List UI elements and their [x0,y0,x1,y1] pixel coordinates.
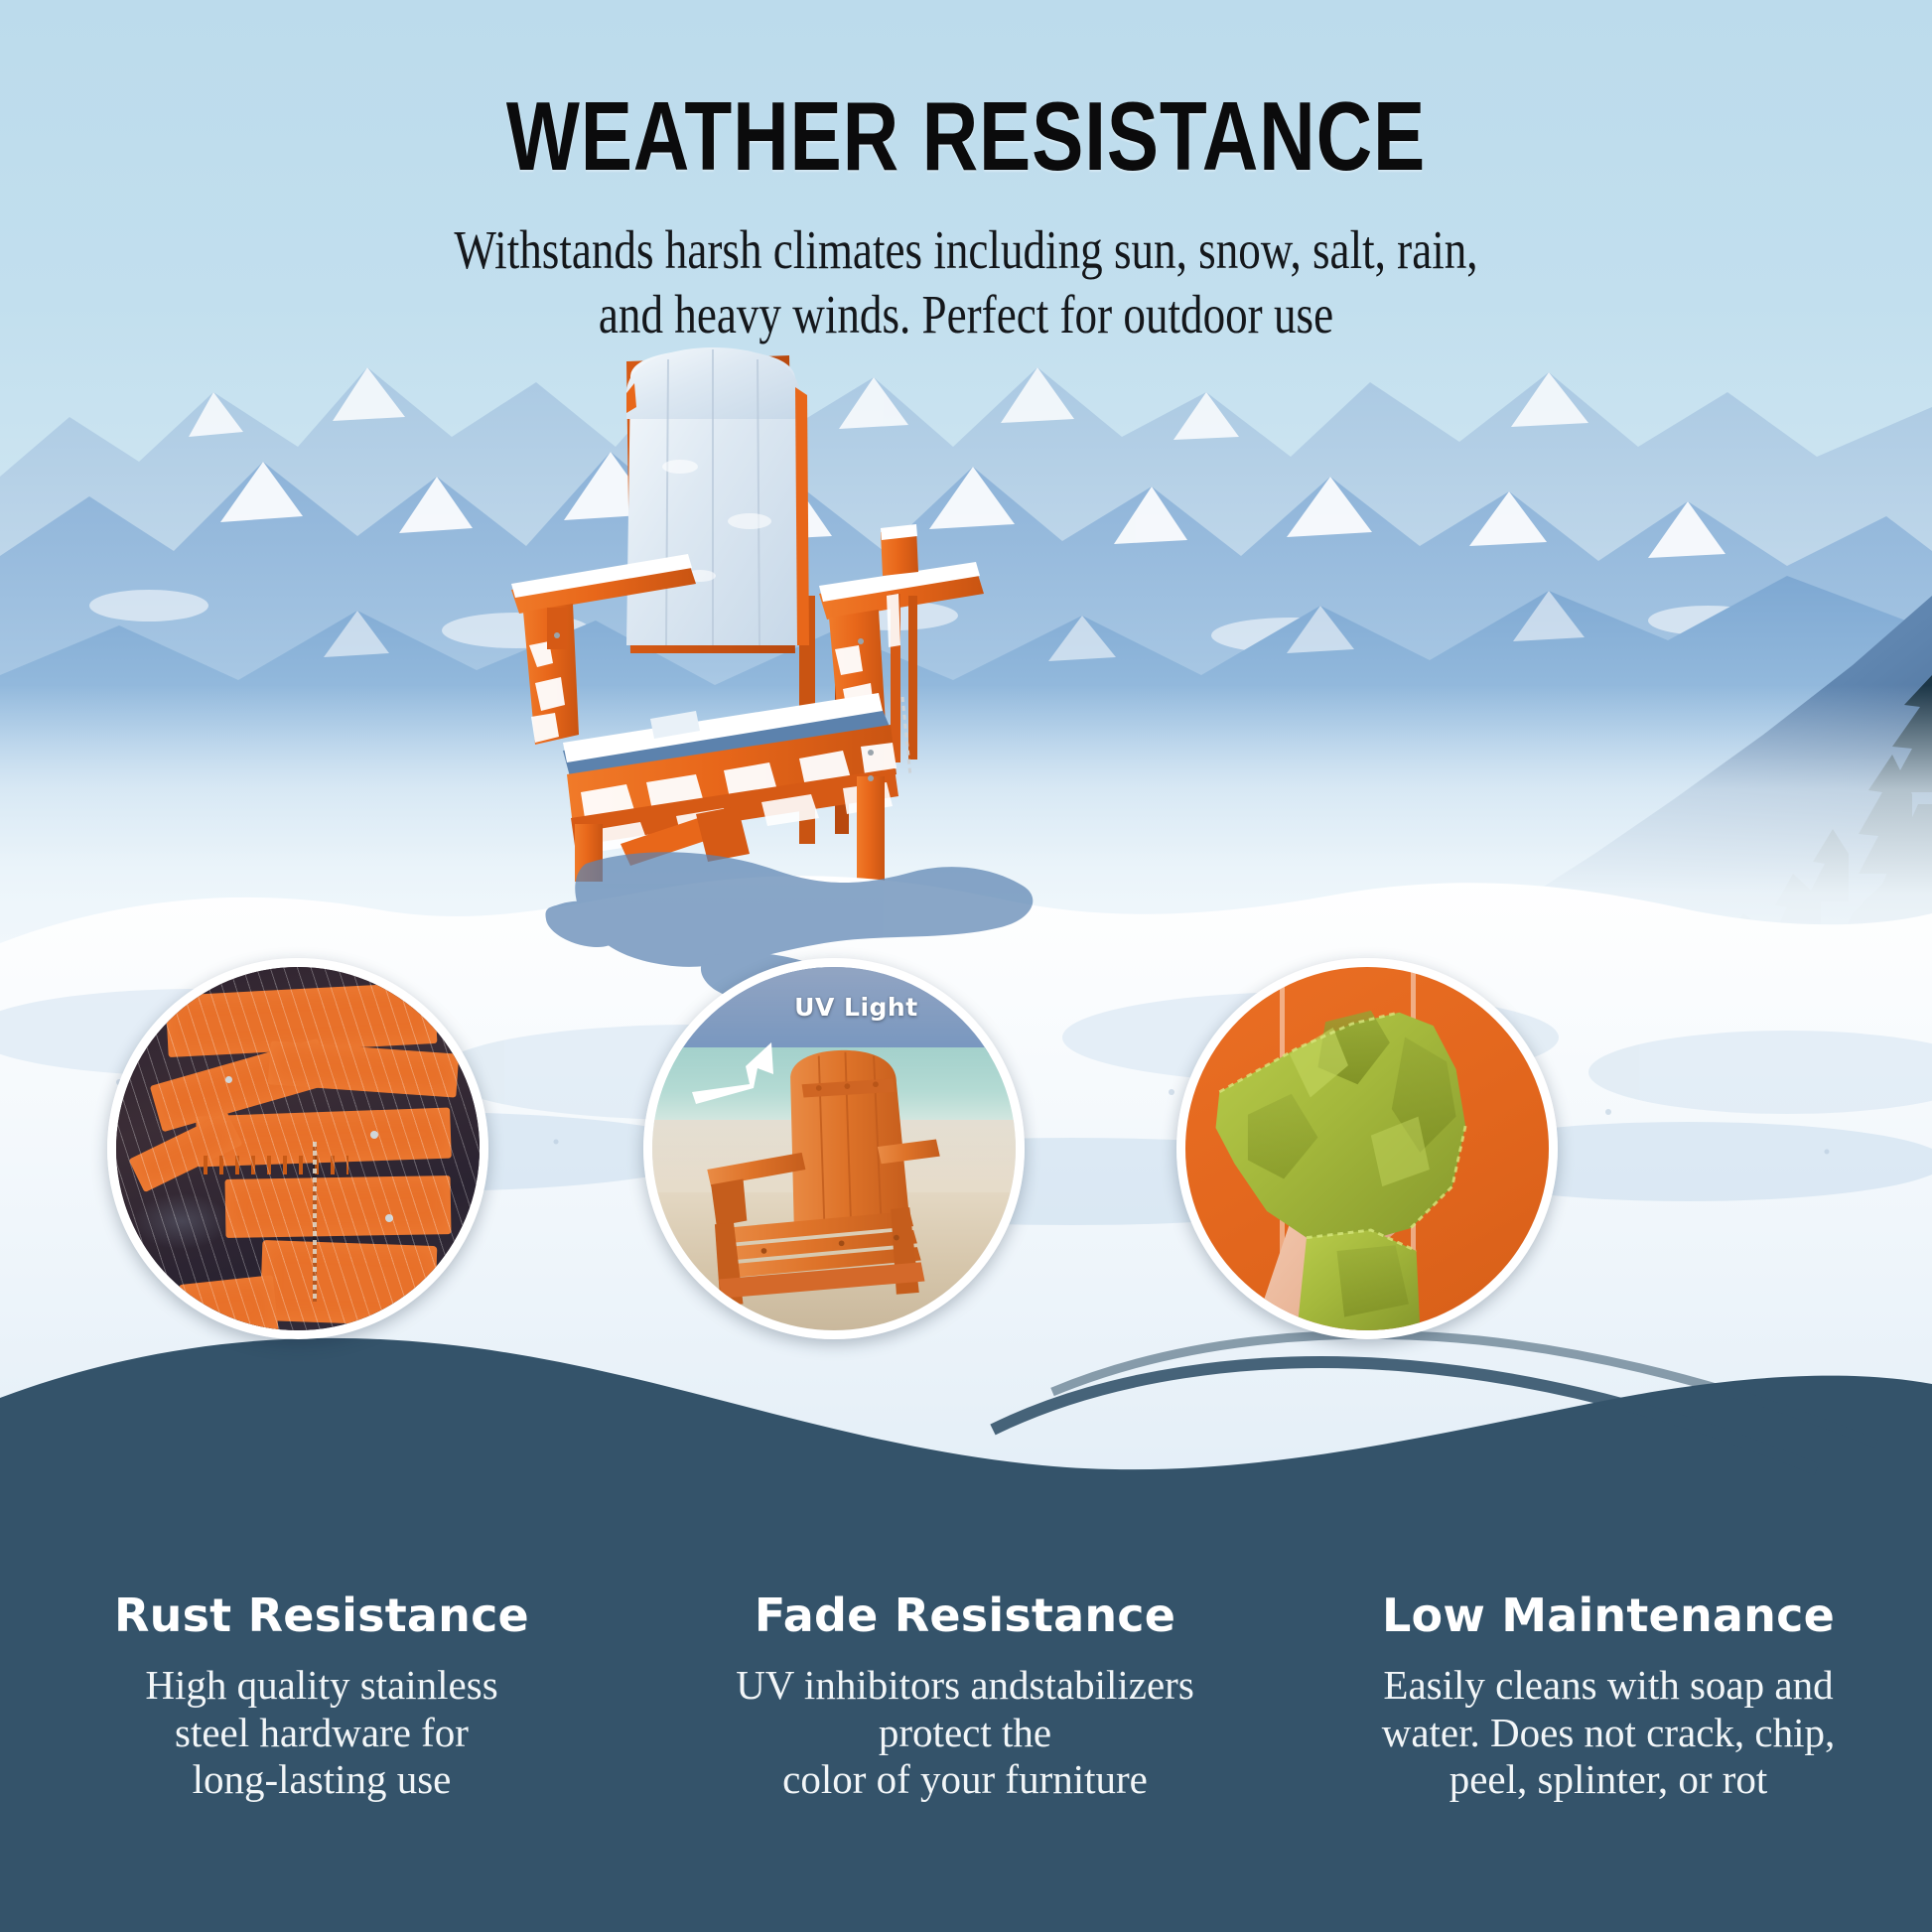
feature-body: Easily cleans with soap and water. Does … [1312,1662,1904,1804]
subtitle-line-2: and heavy winds. Perfect for outdoor use [174,283,1758,347]
page-subtitle: Withstands harsh climates including sun,… [174,218,1758,347]
feature-body-line-1: High quality stainless [26,1662,618,1710]
feature-title: Low Maintenance [1312,1588,1904,1642]
weather-resistance-infographic: WEATHER RESISTANCE Withstands harsh clim… [0,0,1932,1932]
feature-title: Rust Resistance [26,1588,618,1642]
beach-chair [652,967,1016,1330]
feature-circle-low-maintenance [1176,958,1558,1339]
subtitle-line-1: Withstands harsh climates including sun,… [174,218,1758,283]
rain-overlay [116,967,480,1330]
feature-body: UV inhibitors andstabilizers protect the… [669,1662,1261,1804]
feature-body-line-2: steel hardware for [26,1710,618,1757]
header: WEATHER RESISTANCE Withstands harsh clim… [0,0,1932,347]
feature-body-line-2: water. Does not crack, chip, [1312,1710,1904,1757]
feature-circle-fade-resistance: UV Light [643,958,1025,1339]
hand-with-cloth [1185,967,1549,1330]
feature-body-line-1: UV inhibitors andstabilizers [669,1662,1261,1710]
feature-low-maintenance: Low Maintenance Easily cleans with soap … [1287,1588,1930,1804]
feature-circle-rust-resistance [107,958,488,1339]
feature-body-line-3: peel, splinter, or rot [1312,1756,1904,1804]
feature-title: Fade Resistance [669,1588,1261,1642]
feature-body-line-3: color of your furniture [669,1756,1261,1804]
feature-body-line-1: Easily cleans with soap and [1312,1662,1904,1710]
feature-rust-resistance: Rust Resistance High quality stainless s… [0,1588,643,1804]
feature-list: Rust Resistance High quality stainless s… [0,1588,1932,1804]
feature-fade-resistance: Fade Resistance UV inhibitors andstabili… [643,1588,1287,1804]
feature-body-line-3: long-lasting use [26,1756,618,1804]
feature-body: High quality stainless steel hardware fo… [26,1662,618,1804]
feature-body-line-2: protect the [669,1710,1261,1757]
page-title: WEATHER RESISTANCE [194,87,1739,185]
